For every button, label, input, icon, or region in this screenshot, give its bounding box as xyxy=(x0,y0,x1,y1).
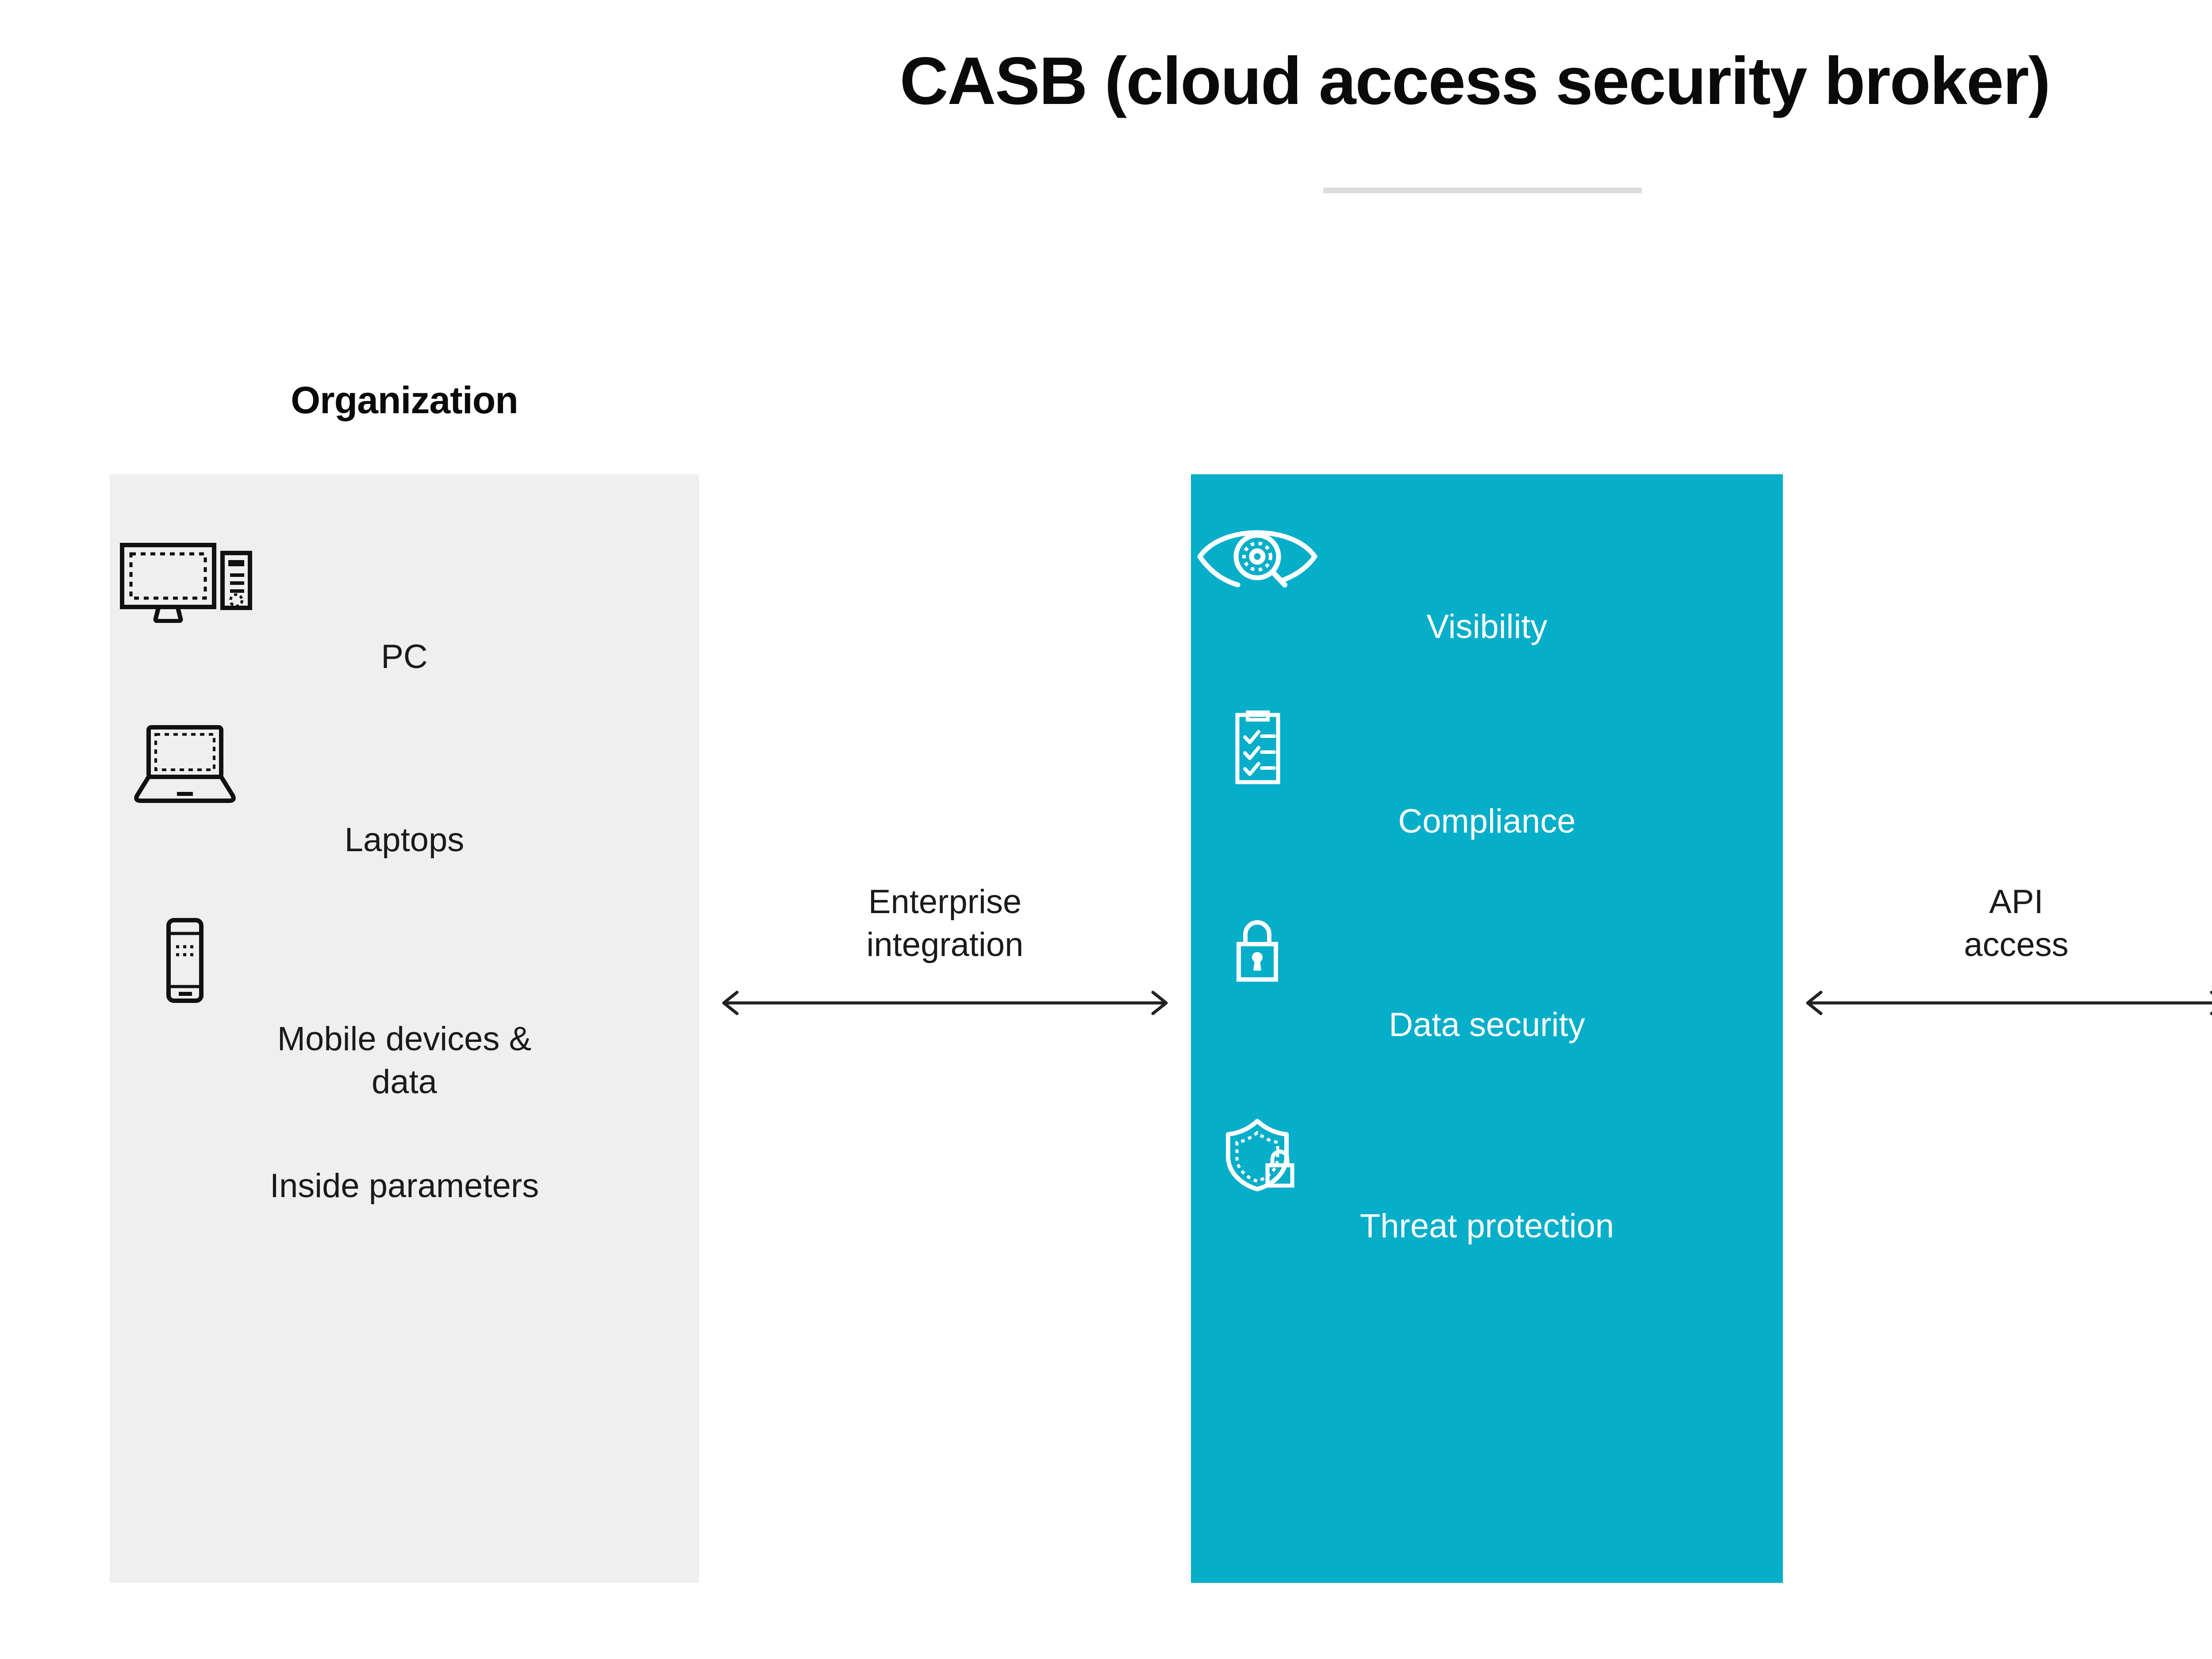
capability-threat-protection: Threat protection xyxy=(1191,1116,1783,1248)
diagram-canvas: CASB (cloud access security broker) Orga… xyxy=(0,0,2212,1659)
connector-api-access: API access xyxy=(1801,880,2212,1016)
capability-data-security: Data security xyxy=(1191,917,1783,1047)
connector-label-line1: Enterprise xyxy=(717,880,1173,923)
mobile-phone-icon xyxy=(110,917,699,1005)
casb-capabilities-panel: Visibility Compliance xyxy=(1191,474,1783,1583)
padlock-icon xyxy=(1191,917,1783,992)
shield-lock-icon xyxy=(1191,1116,1783,1193)
connector-label-line1: API xyxy=(1801,880,2212,923)
page-title: CASB (cloud access security broker) xyxy=(0,44,2212,118)
double-headed-arrow-icon xyxy=(1801,990,2212,1016)
connector-label-line2: integration xyxy=(717,923,1173,966)
connector-enterprise-integration: Enterprise integration xyxy=(717,880,1173,1016)
laptop-icon xyxy=(110,722,699,806)
clipboard-checklist-icon xyxy=(1191,709,1783,788)
org-item-label: Mobile devices & data xyxy=(110,1018,699,1104)
connector-label-line2: access xyxy=(1801,923,2212,966)
capability-visibility: Visibility xyxy=(1191,518,1783,649)
eye-magnifier-icon xyxy=(1191,518,1783,594)
desktop-computer-icon xyxy=(110,541,699,623)
double-headed-arrow-icon xyxy=(717,990,1173,1016)
org-item-label: Laptops xyxy=(110,818,699,861)
capability-compliance: Compliance xyxy=(1191,709,1783,844)
org-item-laptops: Laptops xyxy=(110,722,699,861)
org-item-label: Inside parameters xyxy=(110,1164,699,1207)
capability-label: Compliance xyxy=(1191,800,1783,844)
org-item-label: PC xyxy=(110,635,699,678)
org-item-pc: PC xyxy=(110,541,699,678)
org-item-mobile: Mobile devices & data xyxy=(110,917,699,1104)
capability-label: Threat protection xyxy=(1191,1205,1783,1248)
org-item-inside-parameters: Inside parameters xyxy=(110,1164,699,1207)
organization-panel: PC Laptops xyxy=(110,474,699,1583)
capability-label: Data security xyxy=(1191,1003,1783,1047)
capability-label: Visibility xyxy=(1191,605,1783,649)
organization-heading: Organization xyxy=(110,381,699,419)
title-divider xyxy=(1323,188,1642,193)
